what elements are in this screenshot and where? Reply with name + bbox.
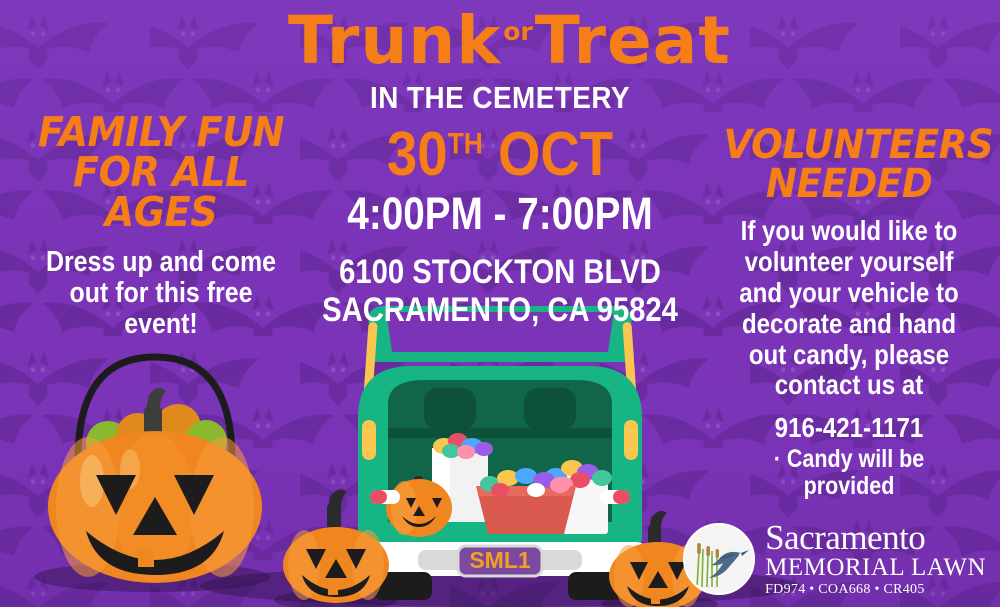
large-jack-o-lantern-basket xyxy=(30,335,280,585)
title-word-trunk: Trunk xyxy=(288,2,501,79)
title-word-treat: Treat xyxy=(535,2,731,79)
event-address: 6100 STOCKTON BLVD SACRAMENTO, CA 95824 xyxy=(288,253,712,329)
logo-line-memorial-lawn: MEMORIAL LAWN xyxy=(765,555,986,581)
medium-jack-o-lantern xyxy=(278,473,398,603)
logo-license-numbers: FD974 • COA668 • CR405 xyxy=(765,581,986,599)
logo-text-block: Sacramento MEMORIAL LAWN FD974 • COA668 … xyxy=(765,520,986,599)
halloween-event-flyer: FAMILY FUN FOR ALL AGES Dress up and com… xyxy=(0,0,1000,607)
volunteers-column: VOLUNTEERS NEEDED If you would like to v… xyxy=(714,126,984,501)
heron-cattails-icon xyxy=(683,523,755,595)
contact-phone-number[interactable]: 916-421-1171 xyxy=(733,413,965,444)
title-connector-or: or xyxy=(503,17,533,46)
event-details-column: TrunkorTreat IN THE CEMETERY 30TH OCT 4:… xyxy=(288,8,712,329)
event-day: 30 xyxy=(387,120,448,189)
address-line-2: SACRAMENTO, CA 95824 xyxy=(318,291,683,329)
event-date: 30TH OCT xyxy=(313,122,686,187)
family-fun-body: Dress up and come out for this free even… xyxy=(41,247,280,341)
family-fun-heading: FAMILY FUN FOR ALL AGES xyxy=(32,112,291,233)
event-day-suffix: TH xyxy=(448,127,483,160)
logo-line-sacramento: Sacramento xyxy=(765,520,986,555)
family-fun-column: FAMILY FUN FOR ALL AGES Dress up and com… xyxy=(22,112,300,340)
volunteers-body: If you would like to volunteer yourself … xyxy=(733,216,965,401)
volunteers-heading: VOLUNTEERS NEEDED xyxy=(723,126,974,204)
license-plate-text: SML1 xyxy=(469,547,531,573)
event-subtitle: IN THE CEMETERY xyxy=(309,80,691,116)
address-line-1: 6100 STOCKTON BLVD xyxy=(318,253,683,291)
event-month: OCT xyxy=(498,120,613,189)
candy-provided-note: · Candy will be provided xyxy=(733,446,965,501)
event-time: 4:00PM - 7:00PM xyxy=(318,189,683,239)
sacramento-memorial-lawn-logo: Sacramento MEMORIAL LAWN FD974 • COA668 … xyxy=(683,520,986,599)
event-title: TrunkorTreat xyxy=(288,8,731,74)
